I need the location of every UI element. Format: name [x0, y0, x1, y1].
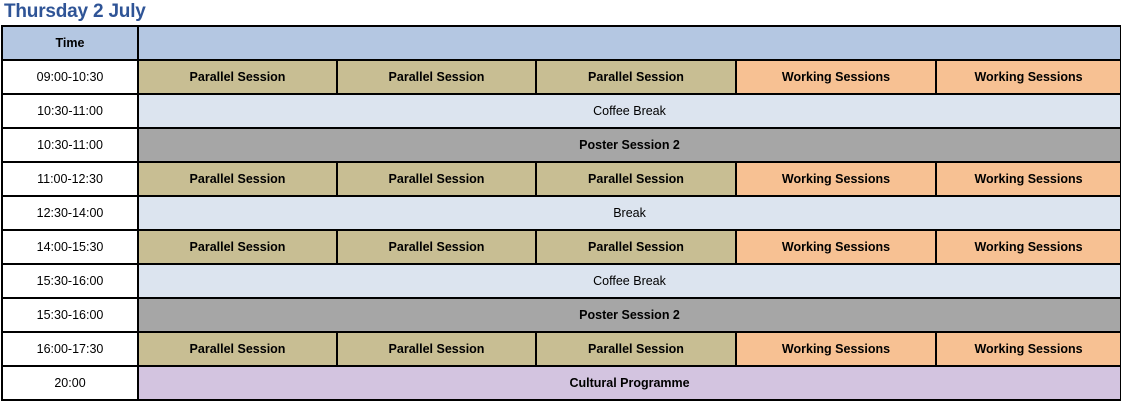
- session-cell-working[interactable]: Working Sessions: [936, 332, 1121, 366]
- column-header-tracks: [138, 26, 1121, 60]
- time-slot-cell: 09:00-10:30: [2, 60, 138, 94]
- session-cell-working[interactable]: Working Sessions: [936, 162, 1121, 196]
- session-cell-parallel[interactable]: Parallel Session: [536, 230, 736, 264]
- session-cell-parallel[interactable]: Parallel Session: [337, 230, 536, 264]
- time-slot-cell: 11:00-12:30: [2, 162, 138, 196]
- session-cell-parallel[interactable]: Parallel Session: [337, 60, 536, 94]
- table-row: 14:00-15:30Parallel SessionParallel Sess…: [2, 230, 1121, 264]
- time-slot-cell: 15:30-16:00: [2, 298, 138, 332]
- session-cell-poster[interactable]: Poster Session 2: [138, 128, 1121, 162]
- session-cell-break[interactable]: Coffee Break: [138, 264, 1121, 298]
- session-cell-working[interactable]: Working Sessions: [736, 332, 936, 366]
- session-cell-parallel[interactable]: Parallel Session: [138, 230, 337, 264]
- table-row: 10:30-11:00Coffee Break: [2, 94, 1121, 128]
- time-slot-cell: 15:30-16:00: [2, 264, 138, 298]
- session-cell-break[interactable]: Break: [138, 196, 1121, 230]
- session-cell-working[interactable]: Working Sessions: [736, 230, 936, 264]
- session-cell-poster[interactable]: Poster Session 2: [138, 298, 1121, 332]
- time-slot-cell: 16:00-17:30: [2, 332, 138, 366]
- table-row: 16:00-17:30Parallel SessionParallel Sess…: [2, 332, 1121, 366]
- session-cell-parallel[interactable]: Parallel Session: [536, 332, 736, 366]
- session-cell-parallel[interactable]: Parallel Session: [536, 60, 736, 94]
- session-cell-parallel[interactable]: Parallel Session: [536, 162, 736, 196]
- column-header-time: Time: [2, 26, 138, 60]
- session-cell-cultural[interactable]: Cultural Programme: [138, 366, 1121, 400]
- table-row: 09:00-10:30Parallel SessionParallel Sess…: [2, 60, 1121, 94]
- time-slot-cell: 10:30-11:00: [2, 128, 138, 162]
- session-cell-parallel[interactable]: Parallel Session: [337, 162, 536, 196]
- time-slot-cell: 20:00: [2, 366, 138, 400]
- time-slot-cell: 10:30-11:00: [2, 94, 138, 128]
- schedule-table: Time09:00-10:30Parallel SessionParallel …: [1, 25, 1121, 401]
- session-cell-parallel[interactable]: Parallel Session: [138, 162, 337, 196]
- session-cell-parallel[interactable]: Parallel Session: [138, 60, 337, 94]
- schedule-header-row: Time: [2, 26, 1121, 60]
- session-cell-working[interactable]: Working Sessions: [736, 162, 936, 196]
- session-cell-break[interactable]: Coffee Break: [138, 94, 1121, 128]
- table-row: 15:30-16:00Coffee Break: [2, 264, 1121, 298]
- table-row: 20:00Cultural Programme: [2, 366, 1121, 400]
- table-row: 12:30-14:00Break: [2, 196, 1121, 230]
- session-cell-working[interactable]: Working Sessions: [936, 60, 1121, 94]
- table-row: 10:30-11:00Poster Session 2: [2, 128, 1121, 162]
- table-row: 15:30-16:00Poster Session 2: [2, 298, 1121, 332]
- time-slot-cell: 12:30-14:00: [2, 196, 138, 230]
- time-slot-cell: 14:00-15:30: [2, 230, 138, 264]
- session-cell-parallel[interactable]: Parallel Session: [337, 332, 536, 366]
- schedule-body: Time09:00-10:30Parallel SessionParallel …: [2, 26, 1121, 400]
- page-title: Thursday 2 July: [0, 0, 1121, 25]
- table-row: 11:00-12:30Parallel SessionParallel Sess…: [2, 162, 1121, 196]
- session-cell-working[interactable]: Working Sessions: [936, 230, 1121, 264]
- session-cell-working[interactable]: Working Sessions: [736, 60, 936, 94]
- session-cell-parallel[interactable]: Parallel Session: [138, 332, 337, 366]
